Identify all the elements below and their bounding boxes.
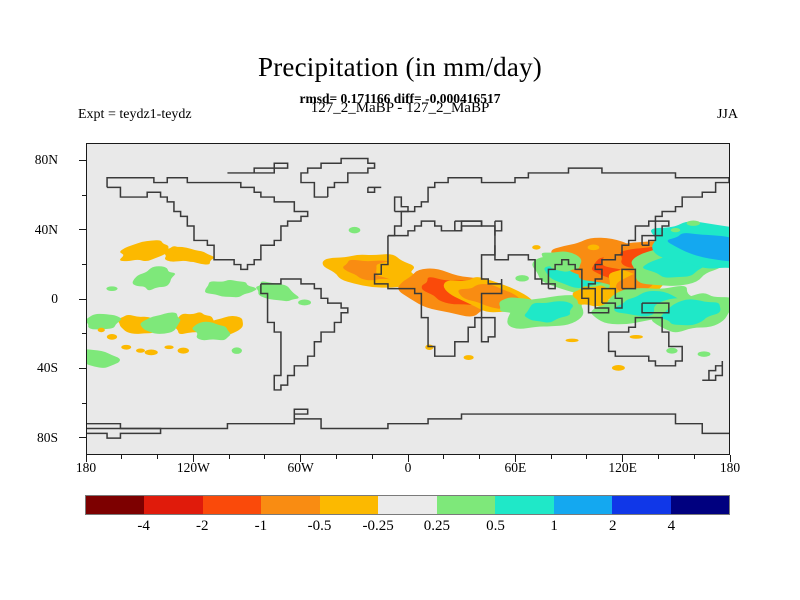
colorbar-band-9 <box>612 496 670 514</box>
anomaly-speckle-0 <box>121 345 131 350</box>
x-minor-tick <box>336 455 337 459</box>
anomaly-speckle-2 <box>145 350 158 356</box>
colorbar-band-3 <box>261 496 319 514</box>
x-minor-tick <box>551 455 552 459</box>
coastline-path-12 <box>395 197 408 211</box>
coastline-path-16 <box>87 429 161 439</box>
coastline-path-3 <box>301 158 375 197</box>
colorbar-band-1 <box>144 496 202 514</box>
y-minor-tick <box>82 333 86 334</box>
y-tick-label-0: 80N <box>0 152 58 168</box>
x-major-tick <box>300 455 301 462</box>
x-minor-tick <box>372 455 373 459</box>
x-major-tick <box>193 455 194 462</box>
x-minor-tick <box>694 455 695 459</box>
anomaly-speckle-21 <box>106 286 117 291</box>
x-tick-label-6: 180 <box>720 460 740 476</box>
colorbar-tick-label-4: -0.25 <box>363 518 394 535</box>
experiment-label: Expt = teydz1-teydz <box>78 107 192 123</box>
anomaly-speckle-10 <box>464 355 474 360</box>
anomaly-patch-2 <box>173 247 215 265</box>
y-minor-tick <box>82 195 86 196</box>
colorbar-band-2 <box>203 496 261 514</box>
x-major-tick <box>86 455 87 462</box>
x-minor-tick <box>229 455 230 459</box>
anomaly-patch-9 <box>87 314 122 330</box>
x-major-tick <box>408 455 409 462</box>
colorbar-tick-label-2: -1 <box>255 518 268 535</box>
anomaly-speckle-19 <box>532 245 540 250</box>
y-major-tick <box>79 160 86 161</box>
anomaly-patch-layer <box>87 221 729 371</box>
coastline-path-10 <box>482 318 495 342</box>
y-minor-tick <box>82 403 86 404</box>
anomaly-speckle-6 <box>98 328 105 332</box>
x-minor-tick <box>443 455 444 459</box>
y-major-tick <box>79 229 86 230</box>
coastline-path-15 <box>87 409 729 433</box>
x-tick-label-2: 60W <box>288 460 314 476</box>
page-title: Precipitation (in mm/day) <box>0 52 800 83</box>
coastline-path-20 <box>455 221 482 231</box>
x-major-tick <box>515 455 516 462</box>
figure-canvas: Precipitation (in mm/day) rmsd= 0.171166… <box>0 0 800 600</box>
colorbar-tick-label-1: -2 <box>196 518 209 535</box>
coastline-path-5 <box>227 163 287 173</box>
anomaly-speckle-11 <box>515 275 528 281</box>
colorbar-band-4 <box>320 496 378 514</box>
anomaly-speckle-20 <box>349 227 361 233</box>
y-minor-tick <box>82 264 86 265</box>
colorbar-band-10 <box>671 496 729 514</box>
colorbar-band-0 <box>86 496 144 514</box>
colorbar-band-7 <box>495 496 553 514</box>
colorbar-tick-label-3: -0.5 <box>308 518 332 535</box>
anomaly-speckle-12 <box>566 339 579 342</box>
colorbar-tick-label-6: 0.5 <box>486 518 505 535</box>
anomaly-patch-4 <box>205 280 258 297</box>
x-major-tick <box>730 455 731 462</box>
anomaly-speckle-5 <box>107 334 117 340</box>
anomaly-speckle-7 <box>232 347 242 354</box>
anomaly-speckle-1 <box>136 349 145 353</box>
anomaly-speckle-18 <box>588 244 600 250</box>
coastline-path-17 <box>368 187 381 192</box>
x-tick-label-4: 60E <box>504 460 526 476</box>
anomaly-speckle-23 <box>612 365 625 371</box>
x-major-tick <box>622 455 623 462</box>
y-tick-label-1: 40N <box>0 222 58 238</box>
x-minor-tick <box>121 455 122 459</box>
map-canvas <box>87 144 729 454</box>
x-tick-label-3: 0 <box>405 460 412 476</box>
colorbar <box>85 495 730 515</box>
anomaly-patch-0 <box>120 240 169 261</box>
anomaly-speckle-14 <box>666 348 677 354</box>
colorbar-tick-label-0: -4 <box>137 518 150 535</box>
y-tick-label-4: 80S <box>0 430 58 446</box>
anomaly-speckle-3 <box>164 345 173 349</box>
x-minor-tick <box>658 455 659 459</box>
anomaly-speckle-4 <box>178 348 189 354</box>
anomaly-speckle-8 <box>298 299 311 305</box>
anomaly-speckle-13 <box>630 335 643 339</box>
colorbar-tick-label-7: 1 <box>550 518 558 535</box>
colorbar-tick-label-8: 2 <box>609 518 617 535</box>
anomaly-speckle-17 <box>687 221 700 226</box>
anomaly-speckle-15 <box>698 351 711 356</box>
colorbar-tick-label-5: 0.25 <box>424 518 450 535</box>
colorbar-band-5 <box>378 496 436 514</box>
y-tick-label-2: 0 <box>0 291 58 307</box>
map-plot-area <box>86 143 730 455</box>
y-major-tick <box>79 368 86 369</box>
coastline-path-19 <box>495 221 502 235</box>
colorbar-band-6 <box>437 496 495 514</box>
x-minor-tick <box>479 455 480 459</box>
coastline-path-9 <box>702 361 722 380</box>
x-tick-label-0: 180 <box>76 460 96 476</box>
anomaly-patch-3 <box>133 266 177 290</box>
x-tick-label-5: 120E <box>608 460 637 476</box>
y-major-tick <box>79 437 86 438</box>
x-minor-tick <box>264 455 265 459</box>
x-minor-tick <box>157 455 158 459</box>
anomaly-speckle-16 <box>671 228 680 232</box>
x-minor-tick <box>586 455 587 459</box>
y-tick-label-3: 40S <box>0 360 58 376</box>
season-label: JJA <box>717 107 738 123</box>
colorbar-band-8 <box>554 496 612 514</box>
y-major-tick <box>79 299 86 300</box>
colorbar-tick-label-9: 4 <box>668 518 676 535</box>
x-tick-label-1: 120W <box>177 460 210 476</box>
map-clip <box>87 144 729 454</box>
